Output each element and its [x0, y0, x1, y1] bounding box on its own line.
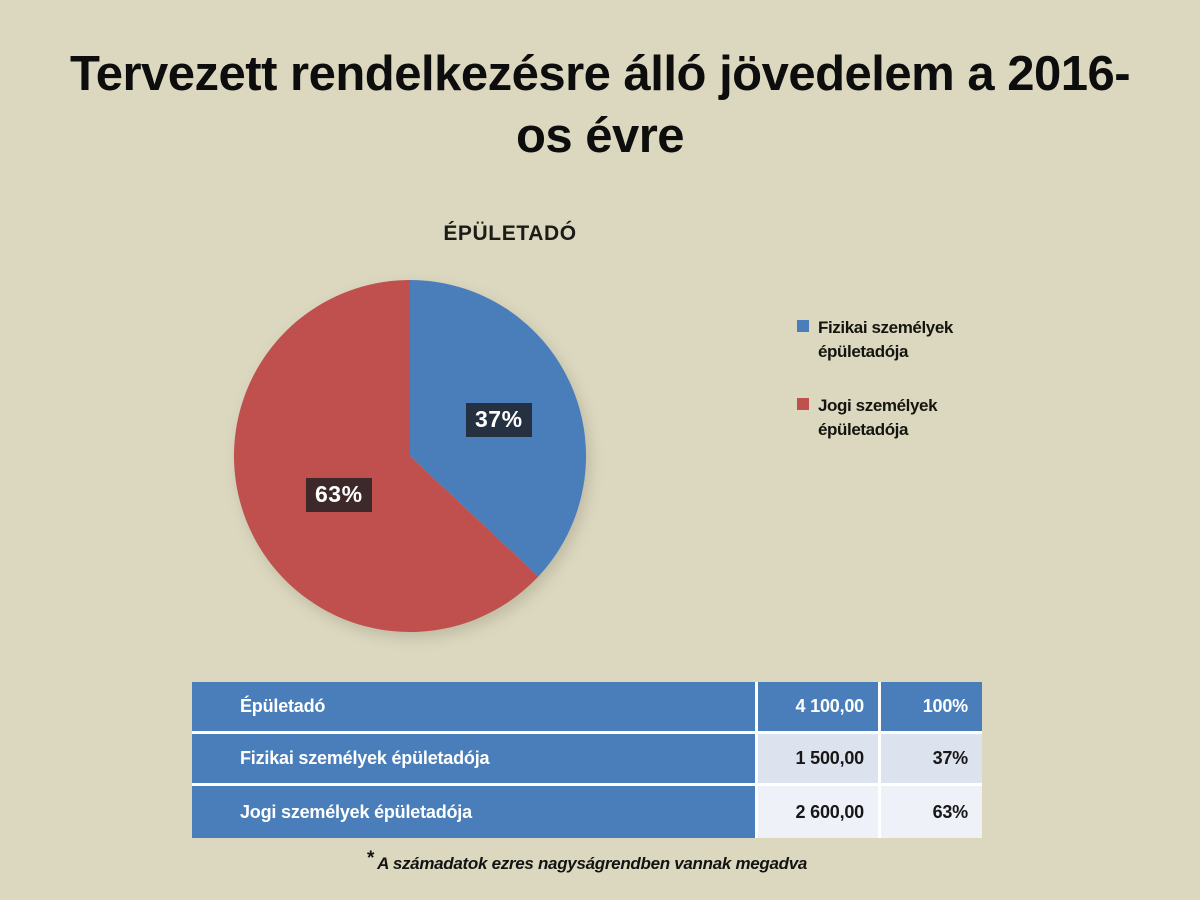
legend-label-fizikai: Fizikai személyek épületadója [818, 316, 996, 364]
legend-item-fizikai[interactable]: Fizikai személyek épületadója [797, 316, 1017, 364]
footnote: *A számadatok ezres nagyságrendben vanna… [192, 848, 982, 874]
table-row: Jogi személyek épületadója2 600,0063% [192, 786, 982, 838]
pie-data-label-fizikai: 37% [466, 403, 532, 437]
data-table: Épületadó4 100,00100%Fizikai személyek é… [192, 682, 982, 838]
pie-chart: 37% 63% [234, 280, 586, 632]
pie-data-label-jogi: 63% [306, 478, 372, 512]
table-cell-percent: 63% [878, 786, 982, 838]
table-cell-percent: 100% [878, 682, 982, 734]
table-cell-label: Jogi személyek épületadója [192, 786, 755, 838]
table-cell-value: 1 500,00 [755, 734, 878, 786]
legend-swatch-icon-jogi [797, 398, 809, 410]
asterisk-icon: * [367, 848, 374, 869]
chart-title: ÉPÜLETADÓ [330, 222, 690, 246]
table-cell-label: Fizikai személyek épületadója [192, 734, 755, 786]
table-row: Fizikai személyek épületadója1 500,0037% [192, 734, 982, 786]
footnote-text: A számadatok ezres nagyságrendben vannak… [377, 854, 807, 873]
table-cell-label: Épületadó [192, 682, 755, 734]
legend-item-jogi[interactable]: Jogi személyek épületadója [797, 394, 1017, 442]
table-cell-value: 2 600,00 [755, 786, 878, 838]
table-row: Épületadó4 100,00100% [192, 682, 982, 734]
legend-swatch-icon-fizikai [797, 320, 809, 332]
table-cell-percent: 37% [878, 734, 982, 786]
legend-label-jogi: Jogi személyek épületadója [818, 394, 996, 442]
table-cell-value: 4 100,00 [755, 682, 878, 734]
pie-slices [234, 280, 586, 632]
chart-legend: Fizikai személyek épületadója Jogi szemé… [797, 316, 1017, 473]
